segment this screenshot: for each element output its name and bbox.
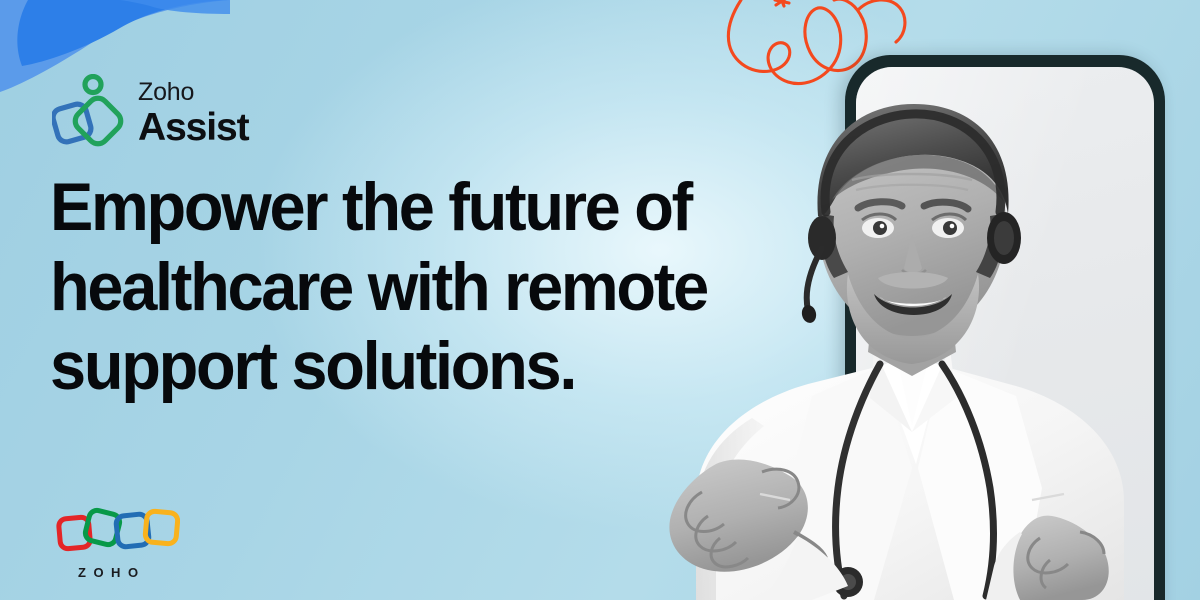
headline-line-2: healthcare with remote bbox=[50, 248, 719, 328]
zoho-assist-wordmark: Zoho Assist bbox=[138, 80, 248, 147]
brand-name: Zoho bbox=[138, 80, 248, 105]
page-title: Empower the future of healthcare with re… bbox=[50, 168, 719, 407]
zoho-four-squares-mark-icon bbox=[56, 506, 180, 558]
zoho-wordmark: ZOHO bbox=[78, 565, 196, 580]
product-name: Assist bbox=[138, 108, 248, 147]
headline-line-3: support solutions. bbox=[50, 327, 719, 407]
screen-gloss bbox=[856, 67, 1154, 600]
phone-screen bbox=[856, 67, 1154, 600]
headline-line-1: Empower the future of bbox=[50, 168, 719, 248]
smartphone-mockup bbox=[845, 55, 1165, 600]
zoho-corporate-logo[interactable]: ZOHO bbox=[56, 506, 196, 580]
marketing-banner: Zoho Assist Empower the future of health… bbox=[0, 0, 1200, 600]
zoho-assist-mark-icon bbox=[52, 74, 124, 152]
zoho-assist-logo[interactable]: Zoho Assist bbox=[52, 74, 248, 152]
